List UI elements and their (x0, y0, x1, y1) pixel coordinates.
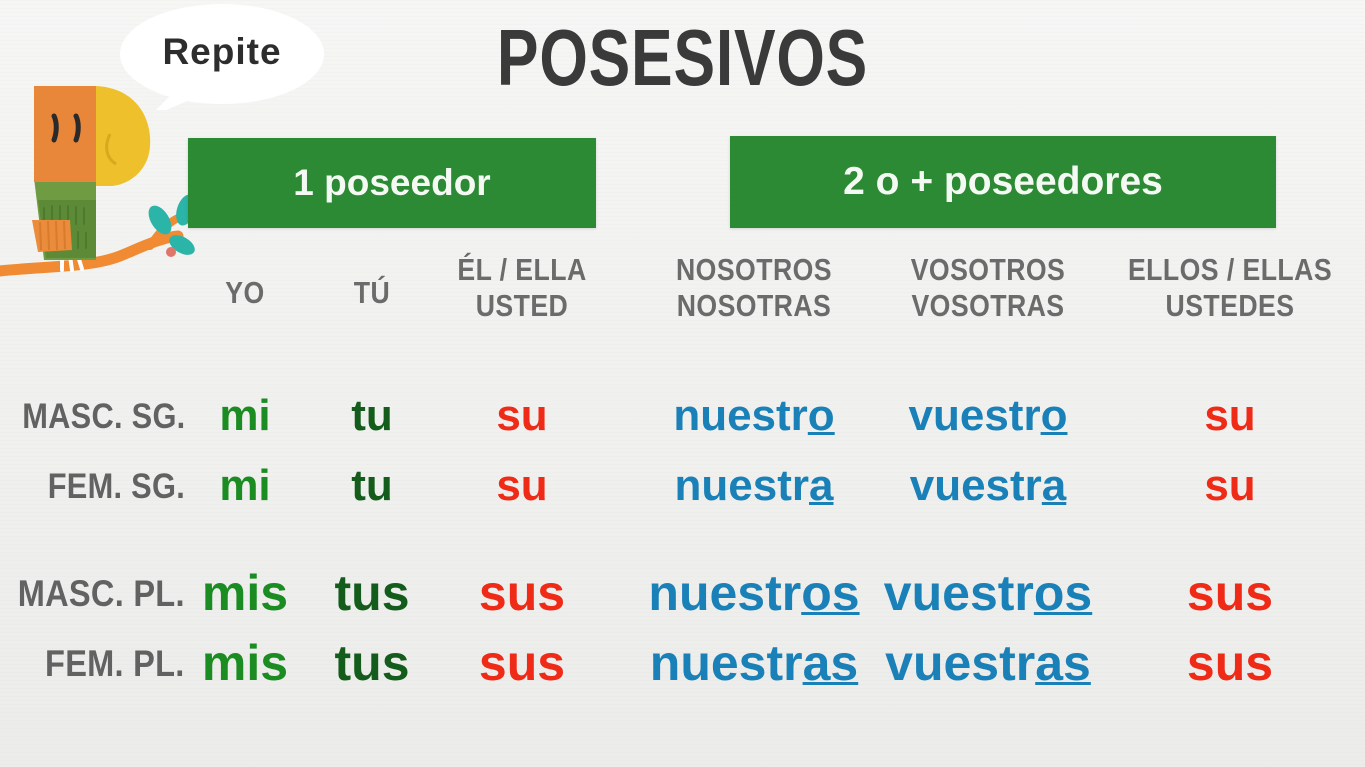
cell-stem: nuestr (673, 391, 807, 440)
cell-stem: vuestr (884, 565, 1034, 621)
cell-masc-sg-vos: vuestro (848, 393, 1128, 439)
cell-fem-pl-vos: vuestras (848, 637, 1128, 689)
cell-ending-underlined: a (1042, 461, 1066, 510)
cell-ending-underlined: o (808, 391, 835, 440)
cell-stem: su (1204, 391, 1255, 440)
cell-ending-underlined: o (1041, 391, 1068, 440)
eye-right (76, 116, 78, 140)
page-title: POSESIVOS (150, 8, 1215, 108)
column-header-nosotros: NOSOTROS NOSOTRAS (654, 252, 854, 324)
cell-ending-underlined: as (1035, 635, 1091, 691)
banner-two-or-more-possessors: 2 o + poseedores (730, 136, 1276, 228)
column-header-tu: TÚ (312, 275, 432, 311)
cell-masc-pl-vos: vuestros (848, 567, 1128, 619)
cell-masc-pl-ellos: sus (1090, 567, 1365, 619)
slide-canvas: Repite POSESIVOS 1 poseedor 2 o + poseed… (0, 0, 1365, 767)
cell-stem: sus (1187, 635, 1273, 691)
cell-stem: su (496, 391, 547, 440)
cell-stem: su (496, 461, 547, 510)
cell-ending-underlined: a (809, 461, 833, 510)
cell-stem: sus (479, 565, 565, 621)
cell-stem: vuestr (885, 635, 1035, 691)
cell-masc-sg-ellos: su (1090, 393, 1365, 439)
cell-fem-pl-ellos: sus (1090, 637, 1365, 689)
cell-stem: vuestr (909, 391, 1041, 440)
cell-stem: sus (479, 635, 565, 691)
berry-shape (166, 247, 176, 257)
column-header-yo: YO (185, 275, 305, 311)
head-shape (34, 86, 96, 182)
cell-fem-sg-ellos: su (1090, 463, 1365, 509)
cell-stem: sus (1187, 565, 1273, 621)
cell-stem: nuestr (650, 635, 803, 691)
column-header-ellos-ellas-ustedes: ELLOS / ELLAS USTEDES (1110, 252, 1350, 324)
wing-shape (32, 220, 72, 252)
cell-ending-underlined: os (1034, 565, 1092, 621)
eye-left (54, 116, 56, 140)
cell-stem: vuestr (910, 461, 1042, 510)
column-header-vosotros: VOSOTROS VOSOTRAS (888, 252, 1088, 324)
cell-stem: nuestr (648, 565, 801, 621)
column-header-el-ella-usted: ÉL / ELLA USTED (432, 252, 612, 324)
banner-one-possessor: 1 poseedor (188, 138, 596, 228)
cell-stem: nuestr (675, 461, 809, 510)
cell-stem: su (1204, 461, 1255, 510)
cell-fem-sg-vos: vuestra (848, 463, 1128, 509)
